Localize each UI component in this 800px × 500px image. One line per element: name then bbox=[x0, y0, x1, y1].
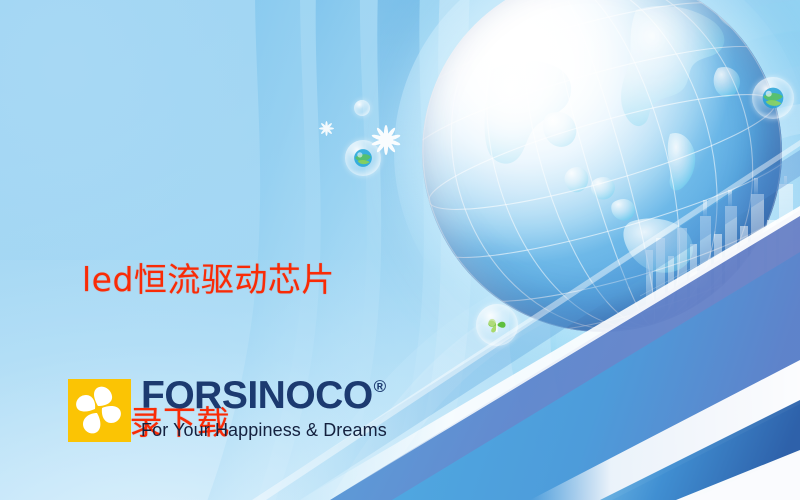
logo-mark-square bbox=[68, 379, 131, 442]
leaf-pinwheel-icon bbox=[485, 313, 509, 337]
registered-trademark-icon: ® bbox=[374, 378, 386, 395]
logo-wordmark: FORSINOCO ® bbox=[141, 376, 387, 415]
logo-text-block: FORSINOCO ® For Your Happiness & Dreams bbox=[141, 376, 387, 439]
presentation-slide: led恒流驱动芯片 目录下载 FORSINOCO ® For Your Happ… bbox=[0, 0, 800, 500]
bubble-globe-small bbox=[354, 100, 370, 116]
sparkle-small-icon bbox=[318, 120, 335, 137]
bubble-globe-edge bbox=[752, 77, 794, 119]
bubble-globe-edge-icon bbox=[761, 86, 785, 110]
logo-tagline: For Your Happiness & Dreams bbox=[141, 421, 387, 439]
bubble-leaf bbox=[476, 304, 518, 346]
page-title: led恒流驱动芯片 目录下载 bbox=[82, 160, 442, 500]
brand-logo: FORSINOCO ® For Your Happiness & Dreams bbox=[68, 379, 387, 442]
title-line-1: led恒流驱动芯片 bbox=[82, 256, 442, 304]
logo-brand-name: FORSINOCO bbox=[141, 376, 373, 415]
sparkle-large-icon bbox=[369, 123, 403, 157]
four-petal-pinwheel-icon bbox=[68, 379, 131, 442]
